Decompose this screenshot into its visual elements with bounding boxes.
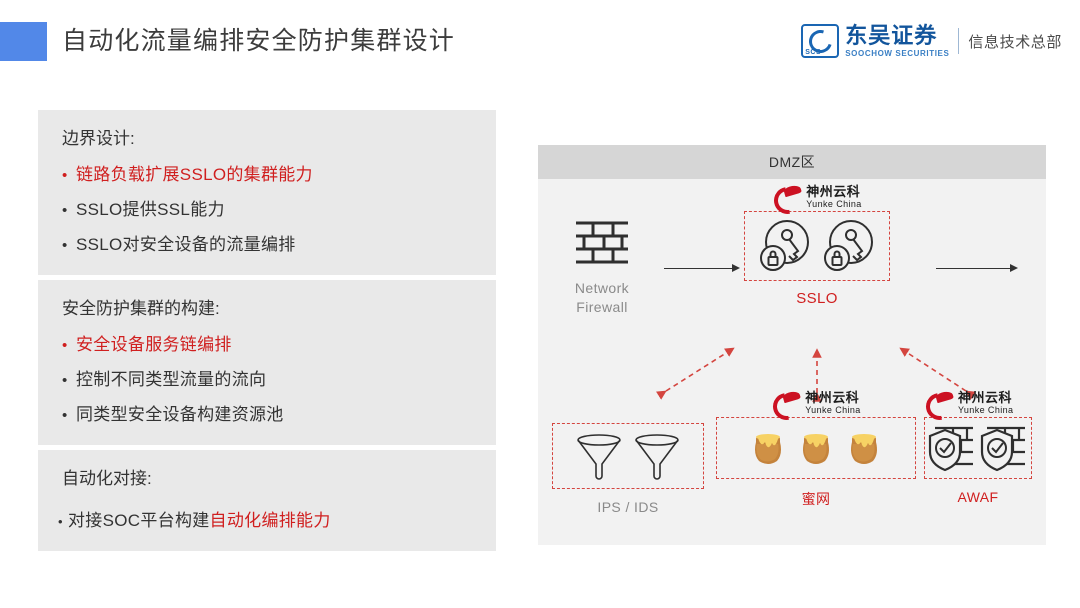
sslo-to-ips-arrow bbox=[666, 348, 734, 391]
bullet-text: 对接SOC平台构建 bbox=[68, 504, 210, 538]
ips-ids-label: IPS / IDS bbox=[552, 499, 704, 515]
panel-boundary-design: 边界设计: • 链路负载扩展SSLO的集群能力 • SSLO提供SSL能力 • … bbox=[38, 110, 496, 275]
bullet-text: 同类型安全设备构建资源池 bbox=[76, 398, 284, 432]
list-item: • 安全设备服务链编排 bbox=[38, 328, 496, 363]
panel-heading: 安全防护集群的构建: bbox=[38, 294, 496, 328]
logo-scs-text: SCS bbox=[805, 49, 821, 56]
vendor-logo-yunke: 神州云科 Yunke China bbox=[924, 391, 1080, 415]
vendor-name: 神州云科 Yunke China bbox=[958, 391, 1013, 415]
brand-divider bbox=[958, 28, 959, 54]
funnel-icon bbox=[631, 430, 683, 482]
brand-names: 东吴证券 SOOCHOW SECURITIES bbox=[845, 25, 949, 58]
bullet-text: SSLO提供SSL能力 bbox=[76, 193, 225, 227]
panel-heading: 边界设计: bbox=[38, 124, 496, 158]
bullet-dot-icon: • bbox=[58, 505, 68, 539]
vendor-name-en: Yunke China bbox=[805, 406, 860, 415]
vendor-name-cn: 神州云科 bbox=[958, 391, 1013, 404]
honey-pot-icon bbox=[847, 428, 881, 468]
bullet-dot-icon: • bbox=[62, 229, 76, 263]
list-item: • 同类型安全设备构建资源池 bbox=[38, 398, 496, 433]
soochow-logo-icon: SCS bbox=[801, 24, 839, 58]
bullet-text: 安全设备服务链编排 bbox=[76, 328, 232, 362]
title-accent-bar bbox=[0, 22, 47, 61]
yunke-swirl-icon bbox=[771, 392, 801, 414]
shield-brick-wall-icon bbox=[979, 422, 1029, 474]
node-honeynet: 神州云科 Yunke China bbox=[716, 391, 916, 509]
honey-pot-icon bbox=[799, 428, 833, 468]
bullet-dot-icon: • bbox=[62, 194, 76, 228]
honeynet-label: 蜜网 bbox=[716, 489, 916, 509]
list-item: • 控制不同类型流量的流向 bbox=[38, 363, 496, 398]
bullet-dot-icon: • bbox=[62, 399, 76, 433]
honeynet-group-box bbox=[716, 417, 916, 479]
panel-automation-integration: 自动化对接: • 对接SOC平台构建自动化编排能力 bbox=[38, 450, 496, 551]
node-awaf: 神州云科 Yunke China bbox=[924, 391, 1080, 505]
bullet-dot-icon: • bbox=[62, 159, 76, 193]
list-item: • SSLO提供SSL能力 bbox=[38, 193, 496, 228]
node-ips-ids: IPS / IDS bbox=[552, 423, 704, 515]
bullet-text-highlight: 自动化编排能力 bbox=[210, 504, 331, 538]
vendor-name-en: Yunke China bbox=[958, 406, 1013, 415]
brand-lockup: SCS 东吴证券 SOOCHOW SECURITIES 信息技术总部 bbox=[801, 22, 1062, 60]
honey-pot-icon bbox=[751, 428, 785, 468]
awaf-label: AWAF bbox=[924, 489, 1032, 505]
panel-heading: 自动化对接: bbox=[38, 464, 496, 498]
funnel-icon bbox=[573, 430, 625, 482]
bullet-dot-icon: • bbox=[62, 364, 76, 398]
vendor-name: 神州云科 Yunke China bbox=[805, 391, 860, 415]
yunke-swirl-icon bbox=[924, 392, 954, 414]
ips-ids-group-box bbox=[552, 423, 704, 489]
bullet-dot-icon: • bbox=[62, 329, 76, 363]
brand-name-en: SOOCHOW SECURITIES bbox=[845, 50, 949, 58]
vendor-name-cn: 神州云科 bbox=[805, 391, 860, 404]
list-item: • SSLO对安全设备的流量编排 bbox=[38, 228, 496, 263]
list-item: • 链路负载扩展SSLO的集群能力 bbox=[38, 158, 496, 193]
page-title: 自动化流量编排安全防护集群设计 bbox=[62, 22, 455, 61]
slide-header: 自动化流量编排安全防护集群设计 SCS 东吴证券 SOOCHOW SECURIT… bbox=[0, 0, 1080, 82]
bullet-text: SSLO对安全设备的流量编排 bbox=[76, 228, 296, 262]
bullet-text: 控制不同类型流量的流向 bbox=[76, 363, 266, 397]
brand-department: 信息技术总部 bbox=[968, 31, 1062, 52]
list-item: • 对接SOC平台构建自动化编排能力 bbox=[38, 504, 496, 539]
shield-brick-wall-icon bbox=[927, 422, 977, 474]
awaf-group-box bbox=[924, 417, 1032, 479]
architecture-diagram: DMZ区 Network bbox=[538, 145, 1046, 545]
panel-security-cluster: 安全防护集群的构建: • 安全设备服务链编排 • 控制不同类型流量的流向 • 同… bbox=[38, 280, 496, 445]
vendor-logo-yunke: 神州云科 Yunke China bbox=[716, 391, 916, 415]
bullet-text: 链路负载扩展SSLO的集群能力 bbox=[76, 158, 313, 192]
sslo-to-awaf-arrow bbox=[900, 348, 966, 391]
bullet-panel-column: 边界设计: • 链路负载扩展SSLO的集群能力 • SSLO提供SSL能力 • … bbox=[38, 110, 496, 556]
brand-name-cn: 东吴证券 bbox=[845, 25, 949, 47]
